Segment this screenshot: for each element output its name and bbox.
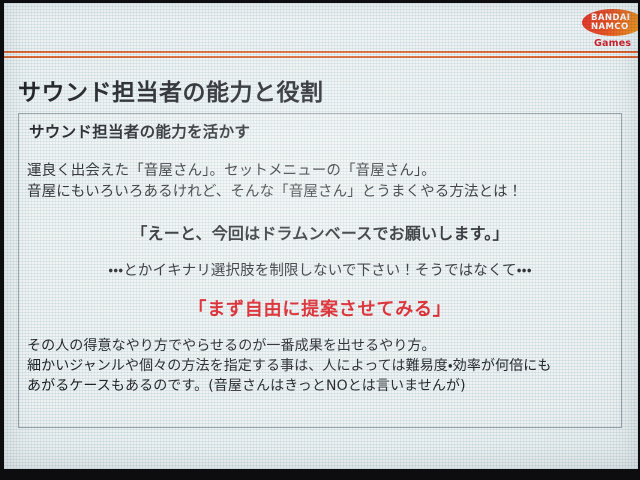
content-box: サウンド担当者の能力を活かす 運良く出会えた「音屋さん」。セットメニューの「音屋… (18, 113, 622, 428)
closing-line-2: 細かいジャンルや個々の方法を指定する事は、人によっては難易度・効率が何倍にも (27, 356, 551, 376)
intro-paragraph: 運良く出会えた「音屋さん」。セットメニューの「音屋さん」。 音屋にもいろいろある… (27, 161, 522, 203)
client-quote-line: 「えーと、今回はドラムンベースでお願いします。」 (19, 220, 621, 244)
intro-line-1: 運良く出会えた「音屋さん」。セットメニューの「音屋さん」。 (27, 161, 522, 182)
closing-line-3: あがるケースもあるのです。(音屋さんはきっとNOとは言いませんが) (27, 376, 551, 396)
header-rule-lower (4, 56, 638, 58)
content-box-heading: サウンド担当者の能力を活かす (29, 120, 250, 142)
closing-line-1: その人の得意なやり方でやらせるのが一番成果を出せるやり方。 (27, 336, 551, 356)
bandai-namco-games-logo: BANDAI NAMCO Games (582, 9, 638, 53)
intro-line-2: 音屋にもいろいろあるけれど、そんな「音屋さん」とうまくやる方法とは！ (27, 182, 522, 203)
slide-title: サウンド担当者の能力と役割 (18, 73, 324, 107)
reaction-line: ・・・とかイキナリ選択肢を制限しないで下さい！そうではなくて・・・ (19, 259, 621, 280)
closing-paragraph: その人の得意なやり方でやらせるのが一番成果を出せるやり方。 細かいジャンルや個々… (27, 336, 551, 396)
logo-text-namco: NAMCO (591, 23, 629, 32)
highlight-statement: 「まず自由に提案させてみる」 (19, 295, 621, 321)
slide-header-band: BANDAI NAMCO Games (4, 3, 638, 53)
logo-text-games: Games (594, 38, 631, 49)
projection-photo-frame: BANDAI NAMCO Games サウンド担当者の能力と役割 サウンド担当者… (0, 0, 640, 480)
presentation-slide: BANDAI NAMCO Games サウンド担当者の能力と役割 サウンド担当者… (4, 3, 638, 469)
header-rule-upper (4, 51, 638, 53)
